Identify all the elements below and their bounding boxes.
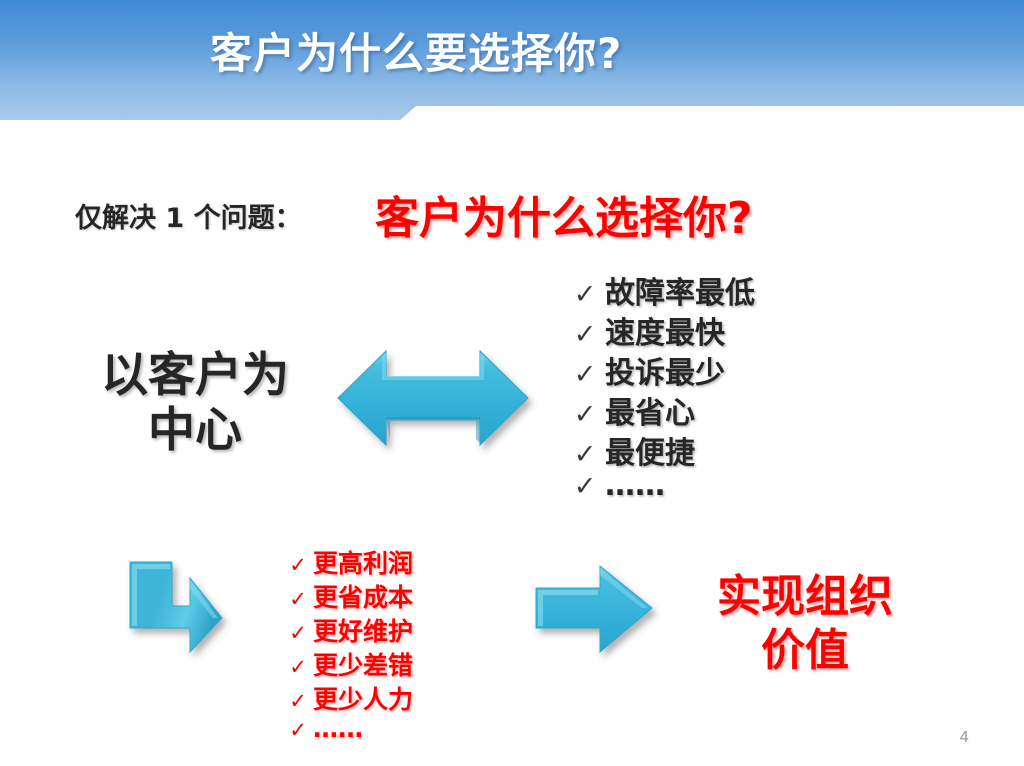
list-item-label: 最省心	[605, 388, 695, 432]
list-item: ✓ 投诉最少	[565, 348, 755, 388]
double-headed-arrow	[338, 343, 528, 453]
check-icon: ✓	[283, 655, 313, 679]
list-item: ✓ 更高利润	[283, 544, 413, 578]
benefits-list: ✓ 故障率最低 ✓ 速度最快 ✓ 投诉最少 ✓ 最省心 ✓ 最便捷 ✓ ……	[565, 268, 755, 508]
customer-centric-text: 以客户为 中心	[55, 348, 335, 459]
result-line-1: 实现组织	[675, 570, 935, 624]
check-icon: ✓	[283, 553, 313, 577]
list-item-label: 更好维护	[313, 612, 413, 648]
check-icon: ✓	[283, 621, 313, 645]
check-icon: ✓	[565, 279, 605, 310]
check-icon: ✓	[565, 439, 605, 470]
list-item-label: 更省成本	[313, 578, 413, 614]
check-icon: ✓	[565, 319, 605, 350]
check-icon: ✓	[283, 718, 313, 742]
list-item: ✓ 更省成本	[283, 578, 413, 612]
list-item-label: 更高利润	[313, 544, 413, 580]
list-item-label: 投诉最少	[605, 348, 725, 392]
list-item: ✓ 最便捷	[565, 428, 755, 468]
list-item: ✓ 更少差错	[283, 646, 413, 680]
list-item: ✓ 故障率最低	[565, 268, 755, 308]
gains-list: ✓ 更高利润 ✓ 更省成本 ✓ 更好维护 ✓ 更少差错 ✓ 更少人力 ✓ ……	[283, 544, 413, 748]
list-item: ✓ 最省心	[565, 388, 755, 428]
slide-title: 客户为什么要选择你?	[210, 20, 622, 81]
elbow-arrow	[124, 556, 228, 656]
customer-centric-line-2: 中心	[55, 403, 335, 458]
list-item: ✓ 速度最快	[565, 308, 755, 348]
question-label: 仅解决 1 个问题：	[75, 196, 302, 235]
list-item: ✓ 更少人力	[283, 680, 413, 714]
check-icon: ✓	[283, 689, 313, 713]
list-item-label: 更少人力	[313, 680, 413, 716]
right-arrow	[530, 562, 658, 658]
list-item-label: 速度最快	[605, 308, 725, 352]
list-item: ✓ ……	[565, 468, 755, 508]
list-item-label: ……	[313, 714, 363, 743]
check-icon: ✓	[565, 359, 605, 390]
list-item-label: 故障率最低	[605, 268, 755, 312]
list-item-label: 更少差错	[313, 646, 413, 682]
page-number: 4	[959, 728, 969, 746]
result-text: 实现组织 价值	[675, 570, 935, 677]
list-item-label: 最便捷	[605, 428, 695, 472]
check-icon: ✓	[283, 587, 313, 611]
customer-centric-line-1: 以客户为	[55, 348, 335, 403]
result-line-2: 价值	[675, 624, 935, 678]
check-icon: ✓	[565, 399, 605, 430]
slide-canvas: 客户为什么要选择你? 仅解决 1 个问题： 客户为什么选择你? 以客户为 中心	[0, 0, 1024, 766]
list-item: ✓ 更好维护	[283, 612, 413, 646]
question-headline: 客户为什么选择你?	[375, 182, 753, 246]
list-item-label: ……	[605, 468, 665, 503]
list-item: ✓ ……	[283, 714, 413, 748]
check-icon: ✓	[565, 471, 605, 502]
